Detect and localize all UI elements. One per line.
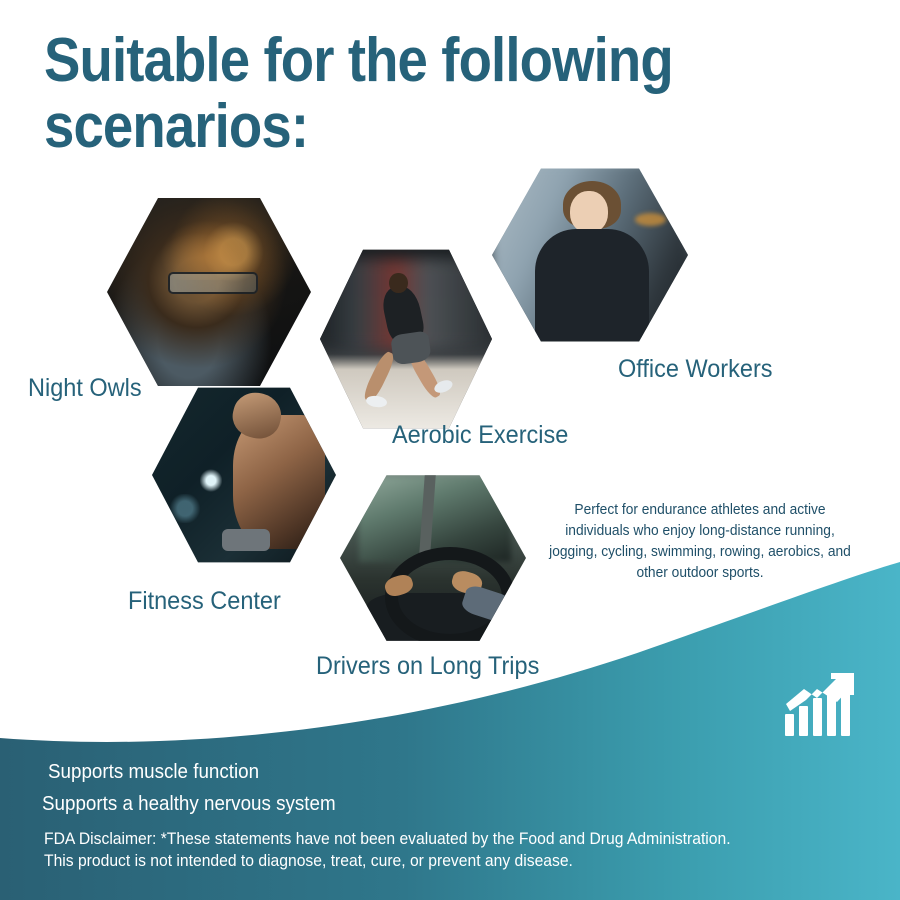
scenario-tile-night-owls[interactable]: [107, 192, 311, 392]
fda-disclaimer: FDA Disclaimer: *These statements have n…: [44, 828, 833, 872]
eyeglasses-shape: [168, 272, 258, 294]
growth-chart-icon: [784, 672, 858, 738]
runner-head: [389, 273, 408, 294]
runner-shoe-back: [366, 395, 388, 409]
lamp-glow: [160, 220, 254, 280]
scenario-label-aerobic-exercise: Aerobic Exercise: [392, 421, 568, 449]
scenario-label-night-owls: Night Owls: [28, 374, 142, 402]
infographic-page: Suitable for the following scenarios:: [0, 0, 900, 900]
office-workers-photo: [492, 163, 688, 347]
claim-muscle-function: Supports muscle function: [48, 760, 259, 784]
woman-blouse: [535, 229, 649, 347]
scenario-tile-office-workers[interactable]: [492, 163, 688, 347]
gym-bokeh-secondary: [170, 494, 199, 524]
scenario-tile-fitness-center[interactable]: [152, 382, 336, 568]
woman-face: [570, 191, 607, 233]
scenario-tile-aerobic-exercise[interactable]: [320, 244, 492, 434]
page-title: Suitable for the following scenarios:: [44, 28, 713, 160]
fitness-center-photo: [152, 382, 336, 568]
aerobic-exercise-photo: [320, 244, 492, 434]
scenario-label-office-workers: Office Workers: [618, 355, 773, 383]
runner-shorts: [390, 331, 432, 366]
office-lamp-bokeh: [635, 213, 666, 226]
gym-bokeh-primary: [200, 469, 222, 491]
claim-nervous-system: Supports a healthy nervous system: [42, 792, 336, 816]
dumbbell: [222, 529, 270, 551]
night-owls-photo: [107, 192, 311, 392]
